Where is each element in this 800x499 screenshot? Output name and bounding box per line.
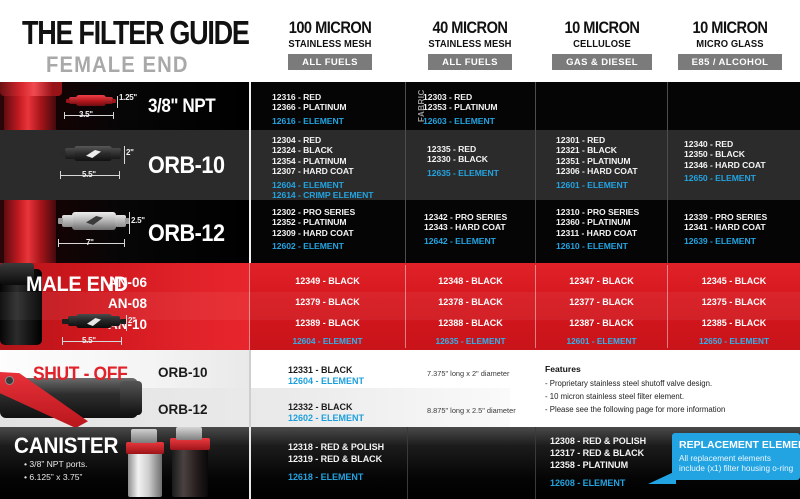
dimension-tick-left [64, 112, 65, 119]
dimension-tick-left [58, 239, 59, 247]
filter-guide-page: THE FILTER GUIDE FEMALE END 100 MICRON S… [0, 0, 800, 499]
column-divider-3 [667, 82, 668, 263]
shutoff-dimension-orb10: 7.375" long x 2" diameter [427, 369, 510, 378]
dimension-tick-left [60, 171, 61, 179]
row-size-label-orb10: ORB-10 [148, 152, 225, 180]
part-number-element: 12608 - ELEMENT [550, 477, 646, 489]
part-number: 12349 - BLACK [250, 276, 405, 286]
part-number-element: 12650 - ELEMENT [668, 336, 800, 346]
canister-column-divider-2 [535, 427, 536, 499]
part-number: 12321 - BLACK [556, 145, 638, 155]
part-number-element: 12601 - ELEMENT [556, 180, 638, 190]
dimension-tick-right [119, 171, 120, 179]
column-fuel-badge: E85 / ALCOHOL [678, 54, 783, 70]
features-heading: Features [545, 364, 581, 374]
filter-endcap-left [69, 97, 78, 104]
part-number: 12375 - BLACK [668, 297, 800, 307]
dimension-diameter-label: 2" [128, 316, 136, 325]
canister-column-divider [407, 427, 408, 499]
shutoff-section: SHUT - OFF ORB-10 ORB-12 12331 - BLACK 1… [0, 350, 800, 427]
cell-orb12-col1: 12302 - PRO SERIES 12352 - PLATINUM 1230… [272, 207, 355, 252]
row-size-label-shutoff-orb10: ORB-10 [158, 365, 208, 380]
filter-endcap-left [68, 316, 77, 326]
column-fuel-badge: ALL FUELS [428, 54, 512, 70]
dimension-line-diameter [124, 146, 125, 164]
feature-item: - 10 micron stainless steel filter eleme… [545, 392, 684, 401]
filter-port-right [112, 99, 116, 103]
filter-port-left [62, 319, 69, 324]
filter-endcap-left [62, 215, 73, 227]
part-number: 12304 - RED [272, 135, 373, 145]
part-number: 12330 - BLACK [427, 154, 499, 164]
part-number: 12308 - RED & POLISH [550, 435, 646, 447]
part-number: 12346 - HARD COAT [684, 160, 766, 170]
part-number: 12343 - HARD COAT [424, 222, 507, 232]
dimension-tick-left [62, 337, 63, 345]
part-number: 12331 - BLACK [288, 365, 364, 376]
column-header-3: 10 MICRON CELLULOSE GAS & DIESEL [532, 18, 672, 70]
dimension-tick-right [124, 239, 125, 247]
product-image-male [62, 311, 128, 333]
part-number: 12319 - RED & BLACK [288, 453, 384, 465]
part-number: 12379 - BLACK [250, 297, 405, 307]
column-divider-2 [535, 82, 536, 263]
column-micron-label: 10 MICRON [670, 18, 790, 38]
dimension-tick-right [121, 337, 122, 345]
canister-bullet-2: • 6.125” x 3.75” [24, 472, 82, 482]
canister-photo-black [172, 445, 208, 497]
part-number: 12347 - BLACK [536, 276, 667, 286]
dimension-length-label: 5.5" [82, 170, 96, 179]
row-size-label-shutoff-orb12: ORB-12 [158, 402, 208, 417]
part-number-element: 12639 - ELEMENT [684, 236, 767, 246]
cell-npt-col1: 12316 - RED 12366 - PLATINUM 12616 - ELE… [272, 92, 347, 126]
part-number-element: 12618 - ELEMENT [288, 471, 384, 483]
shutoff-left-divider [249, 350, 251, 427]
canister-bracket-black [176, 427, 202, 440]
part-number: 12335 - RED [427, 144, 499, 154]
row-size-label-orb12: ORB-12 [148, 220, 225, 248]
part-number: 12345 - BLACK [668, 276, 800, 286]
column-micron-label: 100 MICRON [266, 18, 395, 38]
part-number: 12306 - HARD COAT [556, 166, 638, 176]
part-number: 12366 - PLATINUM [272, 102, 347, 112]
filter-body [76, 95, 106, 106]
part-number: 12342 - PRO SERIES [424, 212, 507, 222]
filter-endcap-right [111, 316, 120, 326]
column-divider-1 [405, 82, 406, 263]
cell-orb10-col2: 12335 - RED 12330 - BLACK 12635 - ELEMEN… [427, 144, 499, 178]
dimension-diameter-label: 2" [126, 148, 134, 157]
column-header-4: 10 MICRON MICRO GLASS E85 / ALCOHOL [660, 18, 800, 70]
cell-orb10-col1: 12304 - RED 12324 - BLACK 12354 - PLATIN… [272, 135, 373, 200]
part-number-element: 12602 - ELEMENT [288, 413, 364, 424]
canister-section: CANISTER • 3/8” NPT ports. • 6.125” x 3.… [0, 427, 800, 499]
part-number: 12389 - BLACK [250, 318, 405, 328]
column-header-1: 100 MICRON STAINLESS MESH ALL FUELS [255, 18, 405, 70]
cell-orb10-col3: 12301 - RED 12321 - BLACK 12351 - PLATIN… [556, 135, 638, 190]
part-number-element: 12601 - ELEMENT [536, 336, 667, 346]
column-media-label: STAINLESS MESH [404, 39, 536, 50]
dimension-length-label: 5.5" [82, 336, 96, 345]
canister-bracket-polish [131, 429, 157, 443]
cell-orb12-col4: 12339 - PRO SERIES 12341 - HARD COAT 126… [684, 212, 767, 246]
part-number: 12378 - BLACK [406, 297, 535, 307]
part-number: 12318 - RED & POLISH [288, 441, 384, 453]
canister-title: CANISTER [14, 433, 118, 459]
part-number: 12388 - BLACK [406, 318, 535, 328]
part-number: 12360 - PLATINUM [556, 217, 639, 227]
female-end-table: 3.5" 1.25" 3/8" NPT 12316 - RED 12366 - … [0, 82, 800, 263]
part-number: 12316 - RED [272, 92, 347, 102]
column-header-2: 40 MICRON STAINLESS MESH ALL FUELS [400, 18, 540, 70]
callout-line-2: include (x1) filter housing o-ring [679, 464, 793, 474]
part-number: 12339 - PRO SERIES [684, 212, 767, 222]
filter-port-left [58, 218, 63, 224]
part-number: 12350 - BLACK [684, 149, 766, 159]
part-number: 12303 - RED [423, 92, 498, 102]
dimension-tick-right [113, 112, 114, 119]
product-image-npt [66, 92, 116, 110]
part-number: 12353 - PLATINUM [423, 102, 498, 112]
part-number-element: 12635 - ELEMENT [406, 336, 535, 346]
part-number: 12324 - BLACK [272, 145, 373, 155]
part-number: 12340 - RED [684, 139, 766, 149]
callout-line-1: All replacement elements [679, 454, 771, 464]
female-end-subtitle: FEMALE END [46, 52, 189, 78]
cell-orb12-col2: 12342 - PRO SERIES 12343 - HARD COAT 126… [424, 212, 507, 246]
row-size-label-npt: 3/8" NPT [148, 96, 215, 118]
canister-photo-polish [128, 449, 162, 497]
shutoff-valve-endcap [120, 381, 142, 415]
dimension-line-diameter [129, 212, 130, 234]
shutoff-dimension-orb12: 8.875" long x 2.5" diameter [427, 406, 516, 415]
product-image-orb12 [58, 210, 132, 236]
cell-orb12-col3: 12310 - PRO SERIES 12360 - PLATINUM 1231… [556, 207, 639, 252]
part-number: 12309 - HARD COAT [272, 228, 355, 238]
part-number-element: 12610 - ELEMENT [556, 241, 639, 251]
shutoff-title: SHUT - OFF [33, 364, 127, 386]
product-image-orb10 [60, 142, 126, 166]
part-number-element: 12603 - ELEMENT [423, 116, 498, 126]
filter-port-left [66, 99, 70, 103]
cell-canister-col1: 12318 - RED & POLISH 12319 - RED & BLACK… [288, 441, 384, 483]
canister-cap-polish [126, 442, 164, 454]
dimension-length-label: 3.5" [79, 110, 93, 119]
part-number-crimp-element: 12614 - CRIMP ELEMENT [272, 190, 373, 200]
part-number: 12302 - PRO SERIES [272, 207, 355, 217]
part-number: 12351 - PLATINUM [556, 156, 638, 166]
column-media-label: CELLULOSE [536, 39, 668, 50]
male-end-section: MALE END AN-06 AN-08 AN-10 5.5" 2" 12349… [0, 263, 800, 350]
title-zone: THE FILTER GUIDE FEMALE END 100 MICRON S… [0, 0, 800, 82]
part-number-element: 12650 - ELEMENT [684, 173, 766, 183]
dimension-line-diameter [126, 315, 127, 331]
cell-npt-col2: 12303 - RED 12353 - PLATINUM 12603 - ELE… [423, 92, 498, 126]
feature-item: - Please see the following page for more… [545, 405, 725, 414]
cell-canister-col3: 12308 - RED & POLISH 12317 - RED & BLACK… [550, 435, 646, 489]
part-number: 12385 - BLACK [668, 318, 800, 328]
dimension-diameter-label: 2.5" [131, 216, 145, 225]
cell-shutoff-orb10: 12331 - BLACK 12604 - ELEMENT [288, 365, 364, 387]
filter-endcap-left [65, 148, 75, 159]
row-size-label-an06: AN-06 [108, 275, 147, 290]
dimension-length-label: 7" [86, 238, 94, 247]
part-number: 12354 - PLATINUM [272, 156, 373, 166]
dimension-diameter-label: 1.25" [119, 93, 137, 102]
part-number: 12352 - PLATINUM [272, 217, 355, 227]
part-number-element: 12602 - ELEMENT [272, 241, 355, 251]
filter-port-left [60, 151, 66, 156]
column-micron-label: 10 MICRON [542, 18, 662, 38]
canister-bullet-1: • 3/8” NPT ports. [24, 459, 88, 469]
callout-title: REPLACEMENT ELEMENTS [679, 439, 800, 451]
part-number: 12377 - BLACK [536, 297, 667, 307]
table-left-divider [249, 82, 251, 263]
part-number: 12310 - PRO SERIES [556, 207, 639, 217]
shutoff-pivot-icon [5, 376, 14, 385]
column-fuel-badge: ALL FUELS [288, 54, 372, 70]
part-number: 12317 - RED & BLACK [550, 447, 646, 459]
part-number: 12301 - RED [556, 135, 638, 145]
part-number-element: 12604 - ELEMENT [250, 336, 405, 346]
canister-left-divider [249, 427, 251, 499]
part-number: 12358 - PLATINUM [550, 459, 646, 471]
dimension-line-diameter [117, 96, 118, 108]
row-size-label-an08: AN-08 [108, 296, 147, 311]
part-number-element: 12616 - ELEMENT [272, 116, 347, 126]
part-number-element: 12604 - ELEMENT [288, 376, 364, 387]
part-number: 12332 - BLACK [288, 402, 364, 413]
part-number-element: 12642 - ELEMENT [424, 236, 507, 246]
cell-orb10-col4: 12340 - RED 12350 - BLACK 12346 - HARD C… [684, 139, 766, 184]
page-title: THE FILTER GUIDE [22, 14, 249, 52]
column-micron-label: 40 MICRON [410, 18, 530, 38]
part-number: 12311 - HARD COAT [556, 228, 639, 238]
red-filter-collar [0, 82, 62, 96]
part-number: 12307 - HARD COAT [272, 166, 373, 176]
column-fuel-badge: GAS & DIESEL [552, 54, 652, 70]
part-number-element: 12604 - ELEMENT [272, 180, 373, 190]
part-number: 12387 - BLACK [536, 318, 667, 328]
part-number: 12341 - HARD COAT [684, 222, 767, 232]
part-number-element: 12635 - ELEMENT [427, 168, 499, 178]
feature-item: - Proprietary stainless steel shutoff va… [545, 379, 712, 388]
part-number: 12348 - BLACK [406, 276, 535, 286]
column-media-label: STAINLESS MESH [260, 39, 401, 50]
cell-shutoff-orb12: 12332 - BLACK 12602 - ELEMENT [288, 402, 364, 424]
column-media-label: MICRO GLASS [664, 39, 796, 50]
